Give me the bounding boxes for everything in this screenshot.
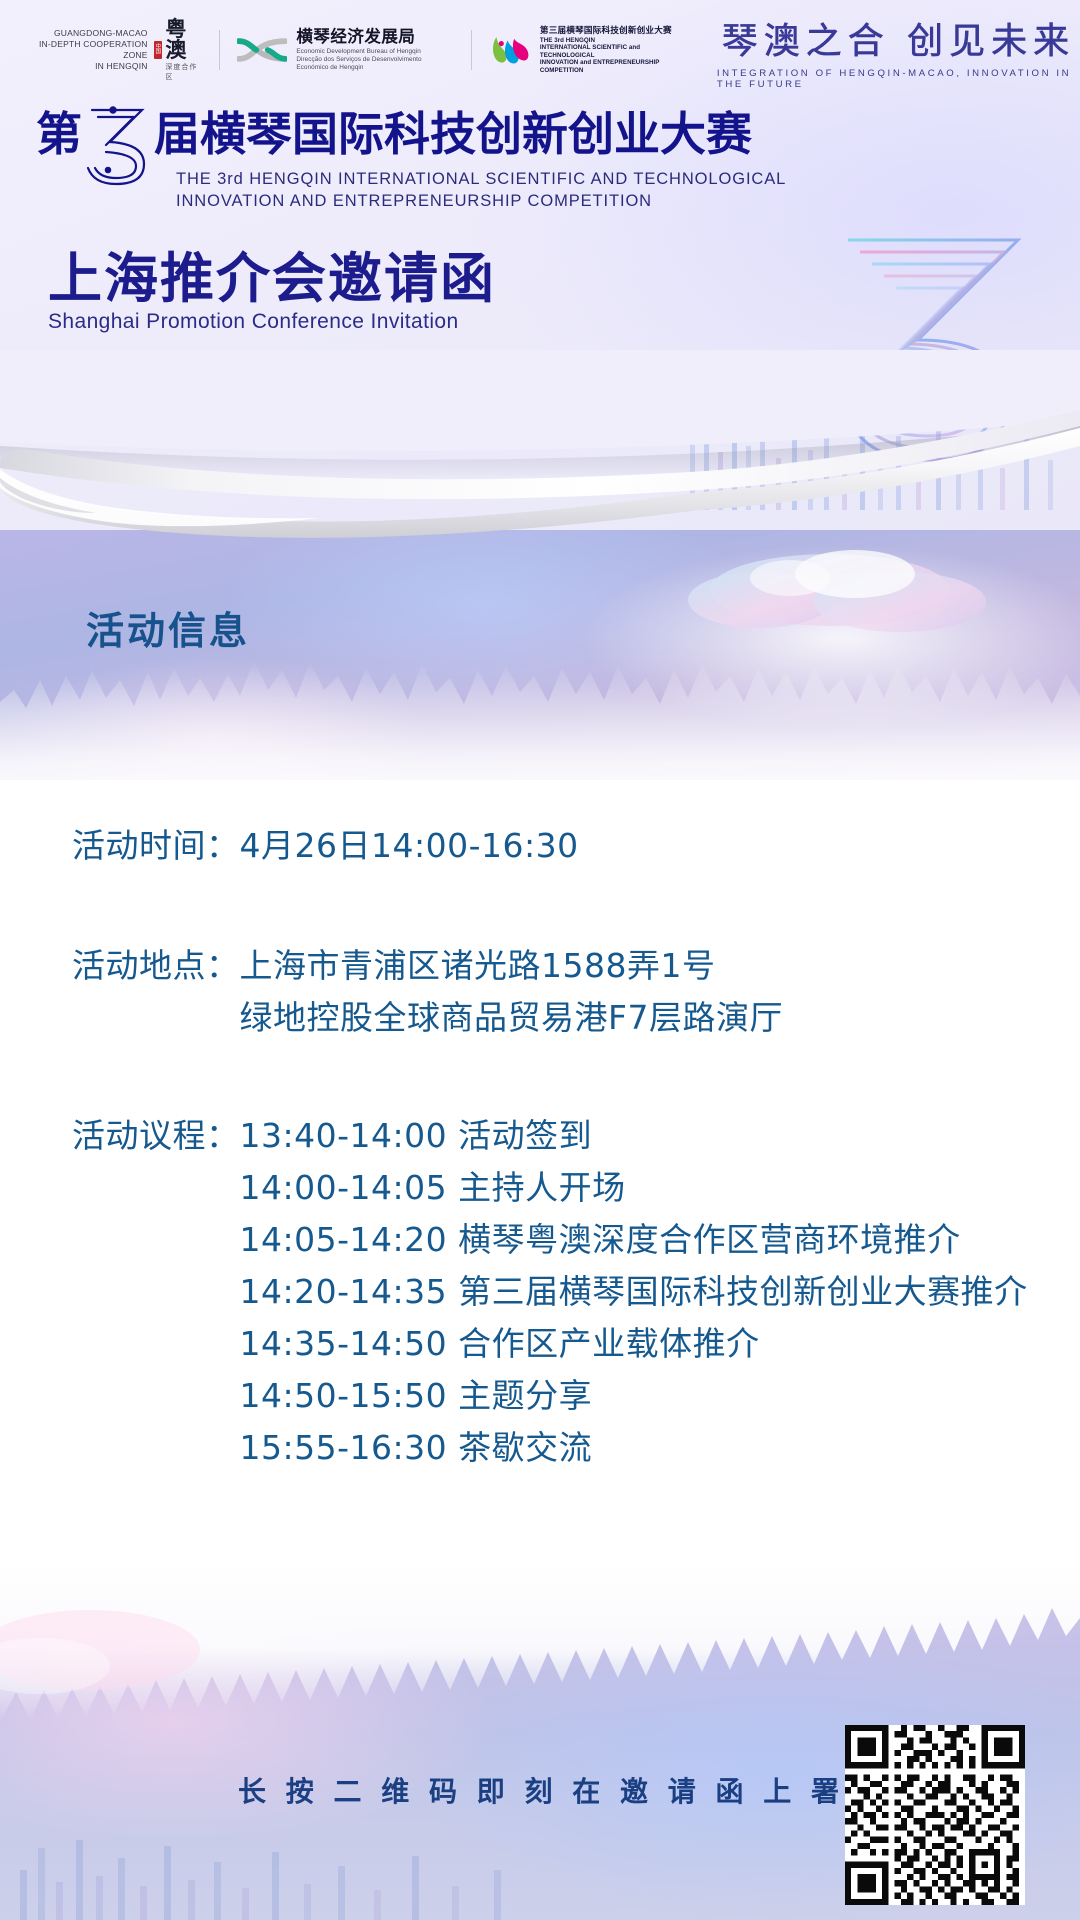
agenda-item: 15:55-16:30 茶歇交流 <box>240 1422 1080 1474</box>
logo-divider-1 <box>219 30 220 70</box>
bureau-english-name: Economic Development Bureau of Hengqin D… <box>296 48 453 72</box>
event-time-label: 活动时间： <box>72 820 240 872</box>
invitation-subtitle: Shanghai Promotion Conference Invitation <box>48 310 459 334</box>
section-heading: 活动信息 <box>86 600 250 655</box>
bottom-left-cloud <box>0 1580 280 1740</box>
qr-code[interactable] <box>845 1725 1025 1905</box>
agenda-item: 14:35-14:50 合作区产业载体推介 <box>240 1318 1080 1370</box>
competition-chinese-name: 第三届横琴国际科技创新创业大赛 <box>540 26 673 36</box>
agenda-item: 14:50-15:50 主题分享 <box>240 1370 1080 1422</box>
logo-competition: 第三届横琴国际科技创新创业大赛 THE 3rd HENGQIN INTERNAT… <box>490 22 673 78</box>
logo-guangdong-macao-english: GUANGDONG-MACAO IN-DEPTH COOPERATION ZON… <box>38 28 148 72</box>
bureau-mark-icon <box>237 33 287 67</box>
bureau-chinese-name: 横琴经济发展局 <box>296 28 453 45</box>
logo-slogan: 琴澳之合 创见未来 INTEGRATION OF HENGQIN-MACAO, … <box>717 22 1080 78</box>
decorative-three-graphic <box>808 210 1068 480</box>
invitation-poster: GUANGDONG-MACAO IN-DEPTH COOPERATION ZON… <box>0 0 1080 1920</box>
agenda-item: 14:00-14:05 主持人开场 <box>240 1162 1080 1214</box>
event-time-row: 活动时间： 4月26日14:00-16:30 <box>72 820 1080 872</box>
header-panel: GUANGDONG-MACAO IN-DEPTH COOPERATION ZON… <box>0 0 1080 560</box>
event-info-block: 活动时间： 4月26日14:00-16:30 活动地点： 上海市青浦区诸光路15… <box>0 820 1080 1474</box>
agenda-item: 14:05-14:20 横琴粤澳深度合作区营商环境推介 <box>240 1214 1080 1266</box>
slogan-english: INTEGRATION OF HENGQIN-MACAO, INNOVATION… <box>717 68 1080 90</box>
event-place-row: 活动地点： 上海市青浦区诸光路1588弄1号 绿地控股全球商品贸易港F7层路演厅 <box>72 940 1080 1044</box>
logo-economic-development-bureau: 横琴经济发展局 Economic Development Bureau of H… <box>237 22 453 78</box>
cloud-shapes <box>0 530 1080 830</box>
invitation-title: 上海推介会邀请函 <box>48 248 496 310</box>
competition-mark-icon <box>490 30 532 70</box>
qr-code-image <box>845 1725 1025 1905</box>
event-place-label: 活动地点： <box>72 940 240 992</box>
spacer-place-agenda <box>72 1044 1080 1110</box>
event-place-line: 绿地控股全球商品贸易港F7层路演厅 <box>240 992 1080 1044</box>
event-agenda-values: 13:40-14:00 活动签到 14:00-14:05 主持人开场 14:05… <box>240 1110 1080 1474</box>
spacer-time-place <box>72 872 1080 940</box>
event-time-value: 4月26日14:00-16:30 <box>240 826 579 865</box>
competition-subtitle: THE 3rd HENGQIN INTERNATIONAL SCIENTIFIC… <box>176 168 786 212</box>
event-agenda-row: 活动议程： 13:40-14:00 活动签到 14:00-14:05 主持人开场… <box>72 1110 1080 1474</box>
competition-title-rest: 届横琴国际科技创新创业大赛 <box>154 108 752 160</box>
competition-english-name: THE 3rd HENGQIN INTERNATIONAL SCIENTIFIC… <box>540 37 673 74</box>
logo-guangdong-macao-chinese: 粤澳 <box>165 19 200 61</box>
event-place-values: 上海市青浦区诸光路1588弄1号 绿地控股全球商品贸易港F7层路演厅 <box>240 940 1080 1044</box>
agenda-item: 14:20-14:35 第三届横琴国际科技创新创业大赛推介 <box>240 1266 1080 1318</box>
logo-guangdong-macao-chinese-sub: 深度合作区 <box>165 62 200 82</box>
cloud-band: 活动信息 <box>0 530 1080 830</box>
competition-title-prefix: 第 <box>36 108 82 160</box>
logo-divider-2 <box>471 30 472 70</box>
event-place-line: 上海市青浦区诸光路1588弄1号 <box>240 940 1080 992</box>
agenda-item: 13:40-14:00 活动签到 <box>240 1110 1080 1162</box>
logo-badge-red-chip: 中国 <box>154 41 163 59</box>
logo-guangdong-macao: GUANGDONG-MACAO IN-DEPTH COOPERATION ZON… <box>38 22 201 78</box>
slogan-chinese: 琴澳之合 创见未来 <box>722 22 1075 62</box>
event-agenda-label: 活动议程： <box>72 1110 240 1162</box>
logo-guangdong-macao-badge: 中国 粤澳 深度合作区 <box>154 19 201 82</box>
competition-title-numeral-graphic <box>80 98 154 188</box>
logo-strip: GUANGDONG-MACAO IN-DEPTH COOPERATION ZON… <box>0 18 1080 82</box>
decorative-bars-graphic <box>680 380 1080 510</box>
